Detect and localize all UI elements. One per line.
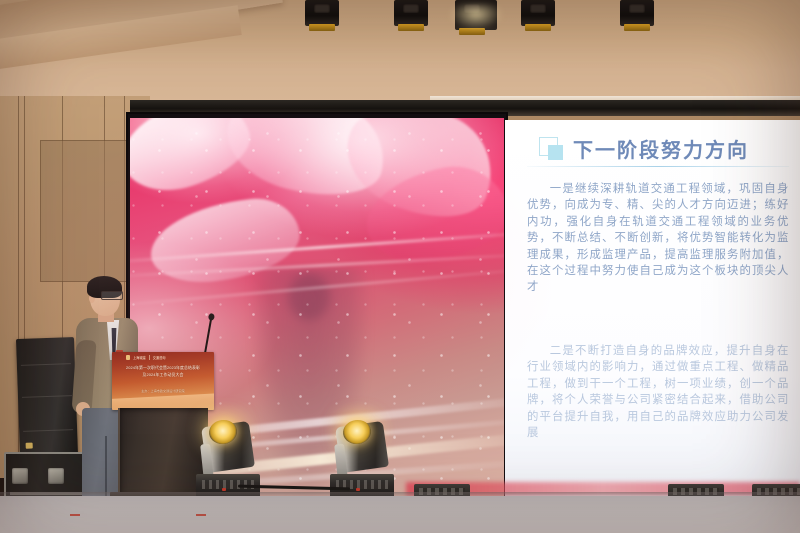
ceiling-moving-head-light-icon: [521, 0, 555, 26]
slide-title-divider: [527, 166, 789, 167]
ceiling-moving-head-light-icon: [620, 0, 654, 26]
glasses-icon: [101, 291, 123, 300]
case-latch-icon: [48, 468, 64, 484]
podium-footer: 主办：上海市政交通设计研究院: [114, 389, 212, 393]
company-logo-icon: [126, 355, 130, 360]
podium-headline-1: 2024年第一次职代会暨2023年度总结表彰: [114, 365, 212, 371]
podium-headline-2: 及2024年工作动员大会: [114, 372, 212, 378]
conference-stage-photo: 下一阶段努力方向 一是继续深耕轨道交通工程领域，巩固自身优势，向成为专、精、尖的…: [0, 0, 800, 533]
slide-title-row: 下一阶段努力方向: [539, 134, 749, 163]
floor-marking-tape: [70, 514, 80, 516]
pa-speaker: [16, 337, 78, 457]
slide-paragraph-1: 一是继续深耕轨道交通工程领域，巩固自身优势，向成为专、精、尖的人才方向迈进；练好…: [527, 180, 789, 295]
stage-floor: [0, 496, 800, 533]
ceiling-moving-head-light-icon: [305, 0, 339, 26]
ceiling-moving-head-light-icon: [394, 0, 428, 26]
square-accent-icon: [539, 137, 563, 161]
slide-paragraph-2: 二是不断打造自身的品牌效应，提升自身在行业领域内的影响力，通过做重点工程、做精品…: [527, 342, 789, 440]
case-latch-icon: [12, 468, 28, 484]
podium-logo-right: 交通咨询: [153, 355, 166, 360]
floor-marking-tape: [196, 514, 206, 516]
podium-banner: 上海城建 交通咨询 2024年第一次职代会暨2023年度总结表彰 及2024年工…: [112, 352, 214, 410]
floor-moving-head-light-left: [196, 418, 260, 502]
slide-title: 下一阶段努力方向: [573, 134, 749, 163]
podium-logo-left: 上海城建: [133, 355, 146, 360]
presentation-slide: 下一阶段努力方向 一是继续深耕轨道交通工程领域，巩固自身优势，向成为专、精、尖的…: [505, 120, 800, 530]
ceiling-light-glow: [448, 4, 504, 30]
speaker-brand-logo: [26, 443, 33, 449]
podium-logo-row: 上海城建 交通咨询: [126, 355, 166, 360]
